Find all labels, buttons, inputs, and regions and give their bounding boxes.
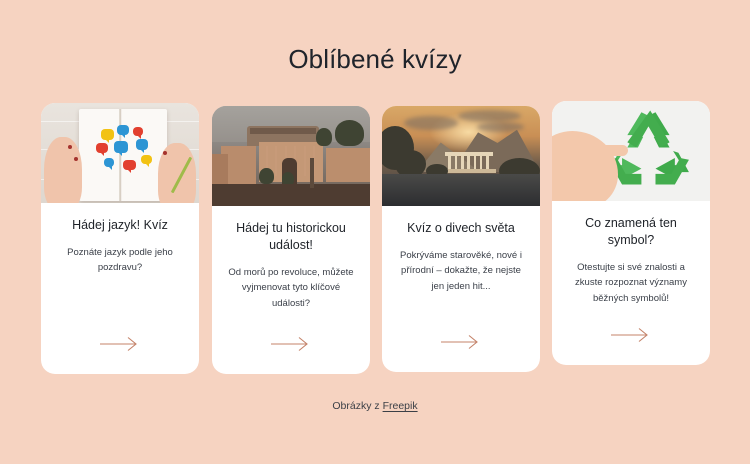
card-title: Hádej jazyk! Kvíz — [72, 217, 168, 234]
quiz-card-wonders[interactable]: Kvíz o divech světa Pokrýváme starověké,… — [382, 106, 540, 372]
arrow-right-icon[interactable] — [609, 327, 653, 343]
freepik-link[interactable]: Freepik — [383, 400, 418, 412]
arrow-right-icon[interactable] — [439, 334, 483, 350]
card-image-greek-temple — [382, 106, 540, 206]
card-description: Pokrýváme starověké, nové i přírodní – d… — [394, 248, 528, 294]
quiz-card-symbols[interactable]: Co znamená ten symbol? Otestujte si své … — [552, 101, 710, 365]
card-title: Hádej tu historickou událost! — [224, 220, 358, 254]
card-description: Poznáte jazyk podle jeho pozdravu? — [53, 245, 187, 276]
image-credit: Obrázky z Freepik — [0, 400, 750, 412]
card-image-recycle-hand — [552, 101, 710, 201]
card-title: Co znamená ten symbol? — [564, 215, 698, 249]
card-image-notebook-hello — [41, 103, 199, 203]
quiz-card-grid: Hádej jazyk! Kvíz Poznáte jazyk podle je… — [0, 0, 750, 464]
arrow-right-icon[interactable] — [269, 336, 313, 352]
card-image-roman-ruins — [212, 106, 370, 206]
card-description: Otestujte si své znalosti a zkuste rozpo… — [564, 260, 698, 306]
card-title: Kvíz o divech světa — [407, 220, 515, 237]
card-description: Od morů po revoluce, můžete vyjmenovat t… — [224, 265, 358, 311]
quiz-card-language[interactable]: Hádej jazyk! Kvíz Poznáte jazyk podle je… — [41, 103, 199, 374]
image-credit-prefix: Obrázky z — [332, 400, 382, 412]
quiz-card-history[interactable]: Hádej tu historickou událost! Od morů po… — [212, 106, 370, 374]
arrow-right-icon[interactable] — [98, 336, 142, 352]
